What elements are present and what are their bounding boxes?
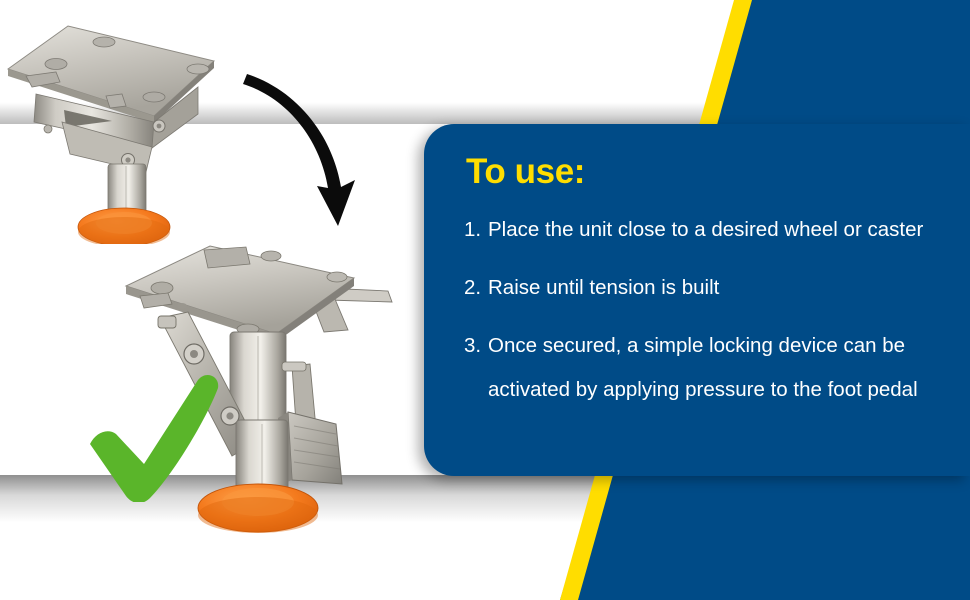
bolt-head bbox=[158, 316, 176, 328]
pivot-bolt-center bbox=[226, 412, 233, 419]
checkmark-shape bbox=[90, 375, 218, 502]
screenshot-canvas: To use: 1. Place the unit close to a des… bbox=[0, 0, 970, 600]
step-continuation: activated by applying pressure to the fo… bbox=[464, 379, 954, 402]
foot-pedal bbox=[288, 412, 342, 484]
step-number: 3. bbox=[464, 335, 488, 358]
plate-slot bbox=[106, 94, 126, 108]
green-checkmark-icon bbox=[86, 372, 224, 502]
steps-list: 1. Place the unit close to a desired whe… bbox=[464, 219, 954, 402]
instruction-panel: To use: 1. Place the unit close to a des… bbox=[424, 124, 970, 476]
plate-hole bbox=[93, 37, 115, 47]
step-text: Once secured, a simple locking device ca… bbox=[488, 335, 954, 358]
step-number: 1. bbox=[464, 219, 488, 242]
list-item: 1. Place the unit close to a desired whe… bbox=[464, 219, 954, 242]
list-item: 2. Raise until tension is built bbox=[464, 277, 954, 300]
bolt-center bbox=[125, 157, 130, 162]
plate-hole bbox=[327, 272, 347, 282]
pivot-bolt-center bbox=[190, 350, 198, 358]
step-number: 2. bbox=[464, 277, 488, 300]
plate-hole bbox=[151, 282, 173, 294]
arrow-shape bbox=[243, 74, 355, 226]
plate-hole bbox=[45, 59, 67, 70]
bolt-head bbox=[282, 362, 306, 371]
step-text: Raise until tension is built bbox=[488, 277, 954, 300]
step-text: Place the unit close to a desired wheel … bbox=[488, 219, 954, 242]
bolt bbox=[44, 125, 52, 133]
plate-hole bbox=[143, 92, 165, 102]
product-image-floor-lock-retracted bbox=[2, 14, 234, 244]
rubber-foot-pad-shadow bbox=[198, 497, 318, 533]
bolt-center bbox=[157, 124, 162, 129]
list-item: 3. Once secured, a simple locking device… bbox=[464, 335, 954, 358]
plate-hole bbox=[261, 251, 281, 261]
plate-slot bbox=[204, 247, 250, 268]
plate-hole bbox=[187, 64, 209, 74]
curved-down-arrow-icon bbox=[210, 68, 380, 238]
plate-hole-small bbox=[177, 303, 187, 309]
panel-title: To use: bbox=[466, 154, 585, 189]
